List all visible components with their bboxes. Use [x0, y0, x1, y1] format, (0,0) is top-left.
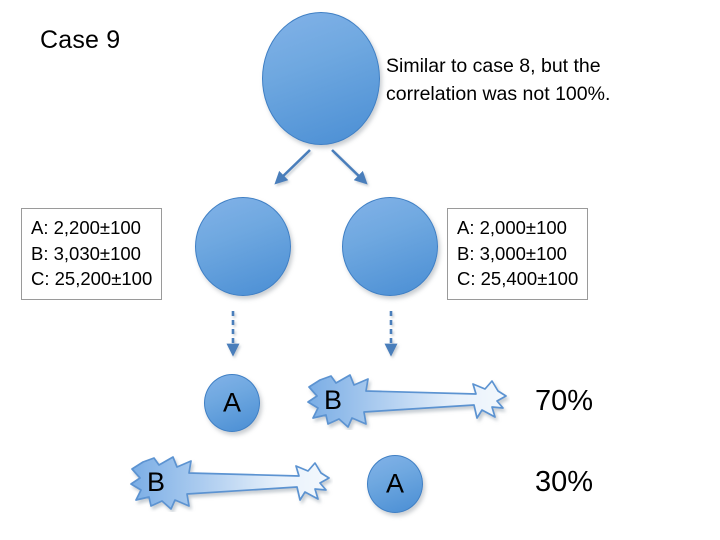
left-child-node-circle[interactable] — [195, 197, 291, 296]
outcome-row-0-circle-a[interactable]: A — [204, 374, 260, 432]
measurement-line: C: 25,200±100 — [31, 266, 152, 292]
outcome-row-1-stretched-shape-b[interactable]: B — [129, 454, 333, 512]
right-measurement-box: A: 2,000±100 B: 3,000±100 C: 25,400±100 — [447, 208, 588, 300]
outcome-row-0-percent: 70% — [535, 385, 593, 418]
solid-arrow-right — [332, 150, 365, 182]
node-label: A — [368, 471, 422, 498]
solid-arrow-left — [277, 150, 310, 182]
node-label: B — [324, 387, 342, 414]
description-text: Similar to case 8, but the correlation w… — [386, 53, 686, 108]
measurement-line: B: 3,030±100 — [31, 241, 152, 267]
root-node-circle[interactable] — [262, 12, 380, 145]
node-label: A — [205, 390, 259, 417]
page-title: Case 9 — [40, 26, 120, 55]
outcome-row-1-circle-a[interactable]: A — [367, 455, 423, 513]
measurement-line: B: 3,000±100 — [457, 241, 578, 267]
slide-canvas: Case 9 Similar to case 8, but the correl… — [0, 0, 720, 540]
node-label: B — [147, 469, 165, 496]
measurement-line: A: 2,200±100 — [31, 215, 152, 241]
outcome-row-1-percent: 30% — [535, 466, 593, 499]
left-measurement-box: A: 2,200±100 B: 3,030±100 C: 25,200±100 — [21, 208, 162, 300]
outcome-row-0-stretched-shape-b[interactable]: B — [306, 372, 510, 430]
measurement-line: C: 25,400±100 — [457, 266, 578, 292]
measurement-line: A: 2,000±100 — [457, 215, 578, 241]
right-child-node-circle[interactable] — [342, 197, 438, 296]
